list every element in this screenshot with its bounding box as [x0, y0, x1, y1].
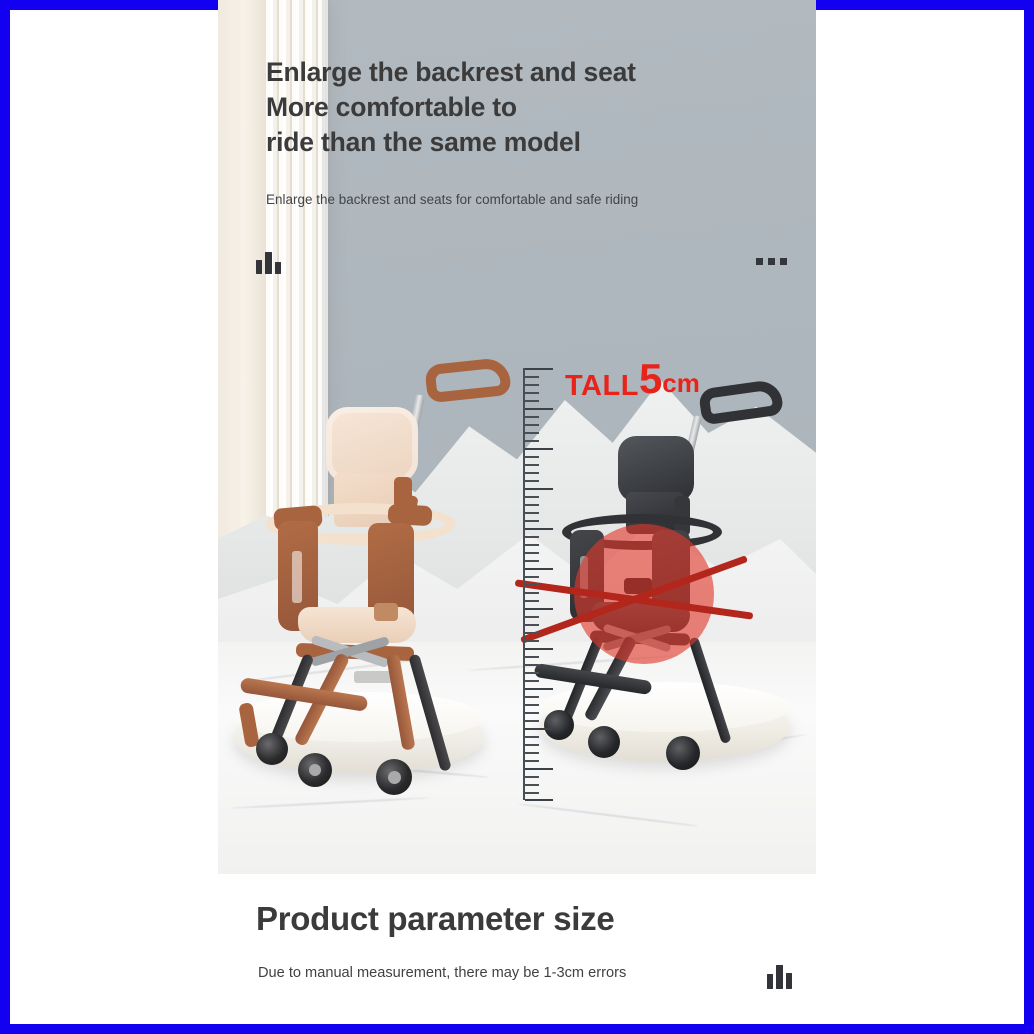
brown-wheel-hub-2	[388, 771, 401, 784]
brown-side-panel-slot	[292, 551, 302, 603]
height-difference-callout: TALL5cm	[565, 358, 700, 401]
ellipsis-icon	[756, 258, 787, 265]
brown-wheel-front	[256, 733, 288, 765]
hero-headline: Enlarge the backrest and seat More comfo…	[266, 55, 786, 161]
brown-seat-buckle	[374, 603, 398, 621]
hero-product-photo: TALL5cm Enlarge the backrest and seat Mo…	[218, 0, 816, 874]
callout-number: 5	[639, 355, 662, 402]
headline-line-2: More comfortable to	[266, 90, 786, 125]
page-canvas: TALL5cm Enlarge the backrest and seat Mo…	[10, 10, 1024, 1024]
black-rear-leg-right	[688, 636, 732, 744]
black-handle-grip	[698, 378, 784, 425]
bar-chart-icon-footer	[767, 965, 792, 989]
brown-headrest	[326, 407, 418, 483]
brown-wheel-hub	[309, 764, 321, 776]
hero-subheadline: Enlarge the backrest and seats for comfo…	[266, 192, 638, 207]
callout-unit: cm	[662, 368, 700, 398]
measurement-note: Due to manual measurement, there may be …	[258, 965, 626, 981]
headline-line-1: Enlarge the backrest and seat	[266, 55, 786, 90]
brown-handle-grip	[424, 357, 512, 404]
stroller-black	[548, 380, 808, 760]
page-title: Product parameter size	[256, 900, 614, 938]
callout-prefix: TALL	[565, 370, 639, 402]
page-frame: TALL5cm Enlarge the backrest and seat Mo…	[0, 0, 1034, 1034]
black-wheel-rear-right	[666, 736, 700, 770]
headline-line-3: ride than the same model	[266, 125, 786, 160]
height-ruler	[523, 368, 557, 800]
bar-chart-icon	[256, 252, 281, 274]
brown-rear-leg-right	[408, 653, 452, 771]
black-wheel-rear-left	[588, 726, 620, 758]
stroller-brown	[248, 355, 528, 765]
